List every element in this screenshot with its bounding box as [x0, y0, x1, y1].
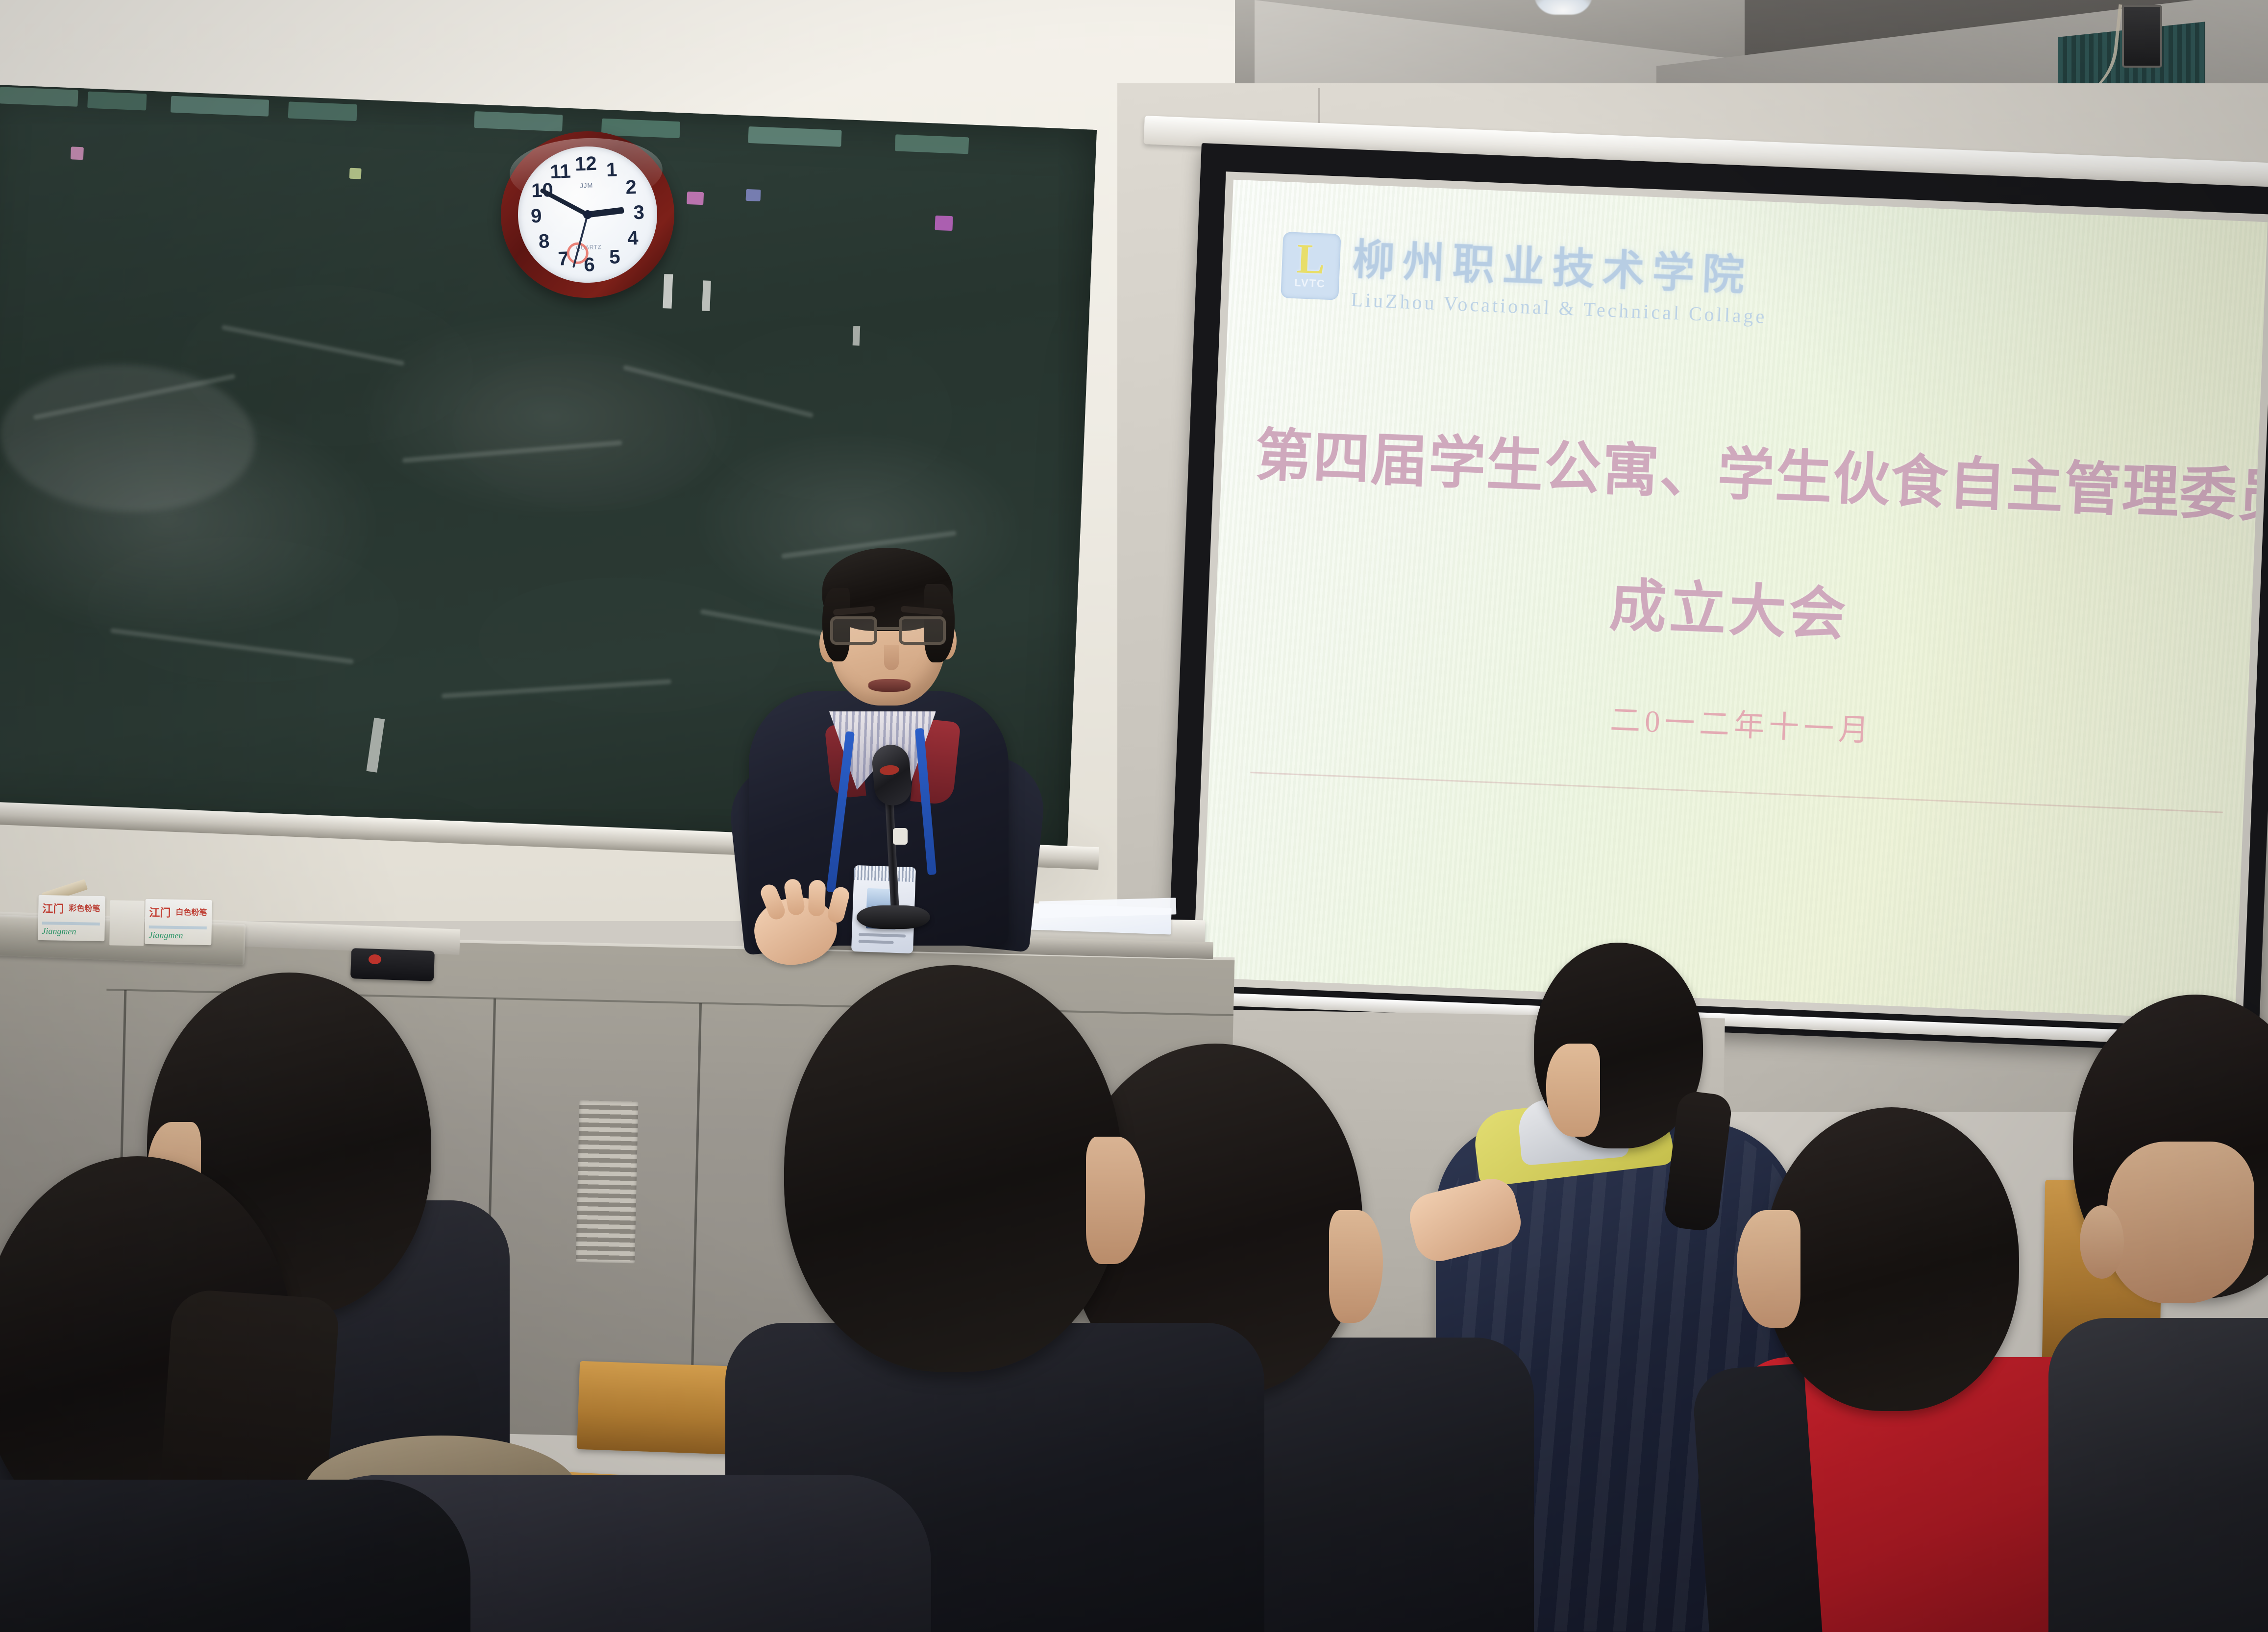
student-face-profile [1546, 1044, 1600, 1137]
clock-numeral-9: 9 [530, 205, 542, 228]
institution-name-block: 柳州职业技术学院 LiuZhou Vocational & Technical … [1351, 224, 1770, 328]
board-eraser [350, 948, 435, 981]
chalk-box-brand-cn: 江门 [149, 904, 171, 920]
presenter-nose [884, 645, 899, 670]
clock-numeral-4: 4 [627, 227, 639, 249]
chalk-box-brand-cn: 江门 [42, 900, 64, 916]
clock-numeral-8: 8 [538, 230, 550, 253]
student-ear [2080, 1205, 2124, 1279]
chalk-paper-stack [109, 900, 145, 946]
presenter-mouth [868, 679, 911, 692]
logo-letter: L [1296, 242, 1326, 276]
clock-brand-label: JJM [580, 182, 593, 190]
chalk-box: 江门 彩色粉笔 Jiangmen [38, 895, 105, 941]
clock-numeral-1: 1 [606, 159, 617, 181]
clock-numeral-3: 3 [633, 201, 645, 224]
dark-jacket [2048, 1318, 2268, 1632]
chalk-box: 江门 白色粉笔 Jiangmen [145, 899, 212, 945]
clock-numeral-5: 5 [609, 246, 621, 268]
microphone-base [857, 905, 930, 929]
slide-title-line-2: 成立大会 [1608, 559, 1850, 651]
clock-center-cap [583, 210, 592, 219]
eraser-marker-dot-icon [369, 954, 381, 964]
clock-hour-hand [587, 207, 624, 218]
chalk-box-brand-en: Jiangmen [148, 930, 183, 941]
classroom-photo: 12 1 2 3 4 5 6 7 8 9 10 11 JJM QUARTZ [0, 0, 2268, 1632]
lvtc-badge-icon: L LVTC [1281, 232, 1341, 300]
clock-minute-hand [540, 188, 589, 217]
slide-canvas: L LVTC 柳州职业技术学院 LiuZhou Vocational & Tec… [1201, 180, 2268, 1020]
glasses-icon [830, 616, 946, 647]
wall-speaker-device [2122, 5, 2162, 68]
cabinet-vent [576, 1100, 638, 1264]
student-head [1764, 1107, 2019, 1411]
dark-coat [0, 1480, 470, 1632]
chalk-box-type-cn: 白色粉笔 [175, 905, 207, 918]
chalk-box-brand-en: Jiangmen [42, 926, 76, 937]
chalk-box-type-cn: 彩色粉笔 [69, 901, 100, 914]
logo-acronym: LVTC [1294, 276, 1326, 291]
jacket-sleeve-dark [1691, 1364, 1823, 1632]
clock-numeral-12: 12 [574, 153, 597, 176]
projection-screen: L LVTC 柳州职业技术学院 LiuZhou Vocational & Tec… [1166, 143, 2268, 1054]
microphone-clip [893, 828, 908, 845]
clock-numeral-2: 2 [625, 176, 637, 199]
student-face-profile [2107, 1142, 2254, 1303]
student-head [784, 965, 1122, 1372]
clock-numeral-11: 11 [550, 160, 571, 183]
